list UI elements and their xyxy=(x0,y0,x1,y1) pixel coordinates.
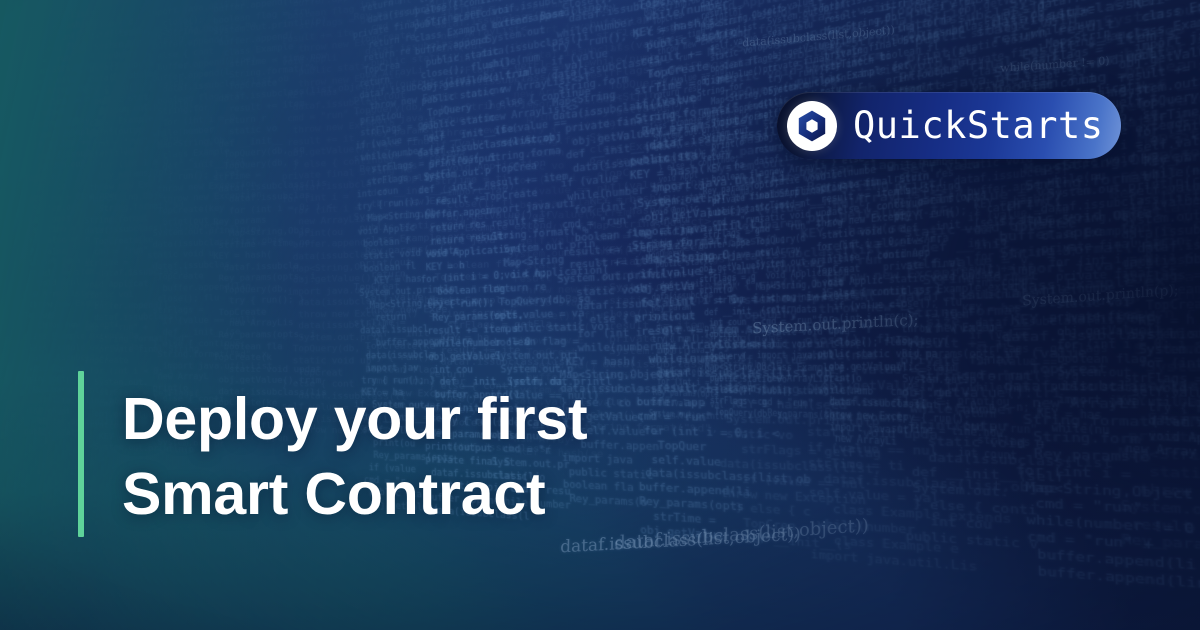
page-title-line-1: Deploy your first xyxy=(122,382,587,457)
quickstarts-hero-banner: while(number String.format("%d", boolean… xyxy=(0,0,1200,630)
green-accent-bar xyxy=(78,371,84,537)
page-title: Deploy your first Smart Contract xyxy=(122,382,587,532)
quickstarts-badge-label: QuickStarts xyxy=(853,107,1104,144)
quickstarts-badge: QuickStarts xyxy=(777,92,1121,159)
page-title-line-2: Smart Contract xyxy=(122,457,587,532)
chainlink-hexagon-icon xyxy=(787,101,837,151)
